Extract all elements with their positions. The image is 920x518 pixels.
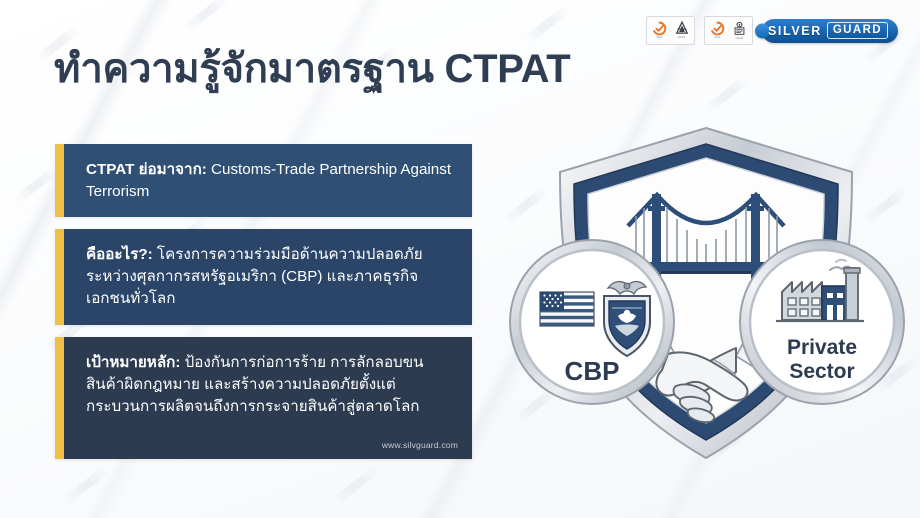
- private-sector-circle: Private Sector: [740, 240, 904, 404]
- info-box-text: CTPAT ย่อมาจาก: Customs-Trade Partnershi…: [86, 159, 455, 203]
- logo-primary-text: SILVER: [768, 24, 822, 38]
- us-flag-icon: [540, 292, 594, 326]
- cert-caption: SGS: [714, 37, 720, 40]
- certification-group-2: SGS UKAS: [704, 16, 753, 45]
- header-marks: SGS UKAS SGS: [646, 16, 898, 45]
- sgs-iso-mark-1-icon: SGS: [650, 19, 669, 42]
- page-title: ทำความรู้จักมาตรฐาน CTPAT: [54, 46, 570, 93]
- cert-caption: UKAS: [736, 38, 744, 41]
- info-box-what-is-it: คืออะไร?: โครงการความร่วมมือด้านความปลอด…: [55, 229, 472, 325]
- private-sector-label-line1: Private: [787, 336, 857, 359]
- info-box-text: คืออะไร?: โครงการความร่วมมือด้านความปลอด…: [86, 244, 455, 310]
- private-sector-label-line2: Sector: [789, 360, 854, 383]
- accreditation-mark-1-icon: UKAS: [672, 19, 691, 42]
- cert-caption: SGS: [656, 37, 662, 40]
- info-box-text: เป้าหมายหลัก: ป้องกันการก่อการร้าย การลั…: [86, 352, 455, 418]
- ctpat-partnership-illustration: CBP: [500, 110, 912, 502]
- info-box-list: CTPAT ย่อมาจาก: Customs-Trade Partnershi…: [55, 144, 472, 459]
- info-box-label: CTPAT ย่อมาจาก:: [86, 161, 207, 178]
- info-box-abbreviation: CTPAT ย่อมาจาก: Customs-Trade Partnershi…: [55, 144, 472, 217]
- certification-group-1: SGS UKAS: [646, 16, 695, 45]
- info-box-main-goal: เป้าหมายหลัก: ป้องกันการก่อการร้าย การลั…: [55, 337, 472, 459]
- sgs-iso-mark-2-icon: SGS: [708, 19, 727, 42]
- info-box-label: เป้าหมายหลัก:: [86, 354, 180, 371]
- logo-secondary-text: GUARD: [827, 22, 888, 38]
- cert-caption: UKAS: [678, 37, 686, 40]
- cbp-circle-label: CBP: [565, 356, 620, 386]
- slide-root: SGS UKAS SGS: [0, 0, 920, 518]
- info-box-label: คืออะไร?:: [86, 246, 153, 263]
- cbp-circle: CBP: [510, 240, 674, 404]
- silverguard-logo[interactable]: SILVER GUARD: [762, 19, 898, 43]
- site-watermark: www.silvguard.com: [382, 439, 458, 451]
- accreditation-mark-2-icon: UKAS: [730, 19, 749, 42]
